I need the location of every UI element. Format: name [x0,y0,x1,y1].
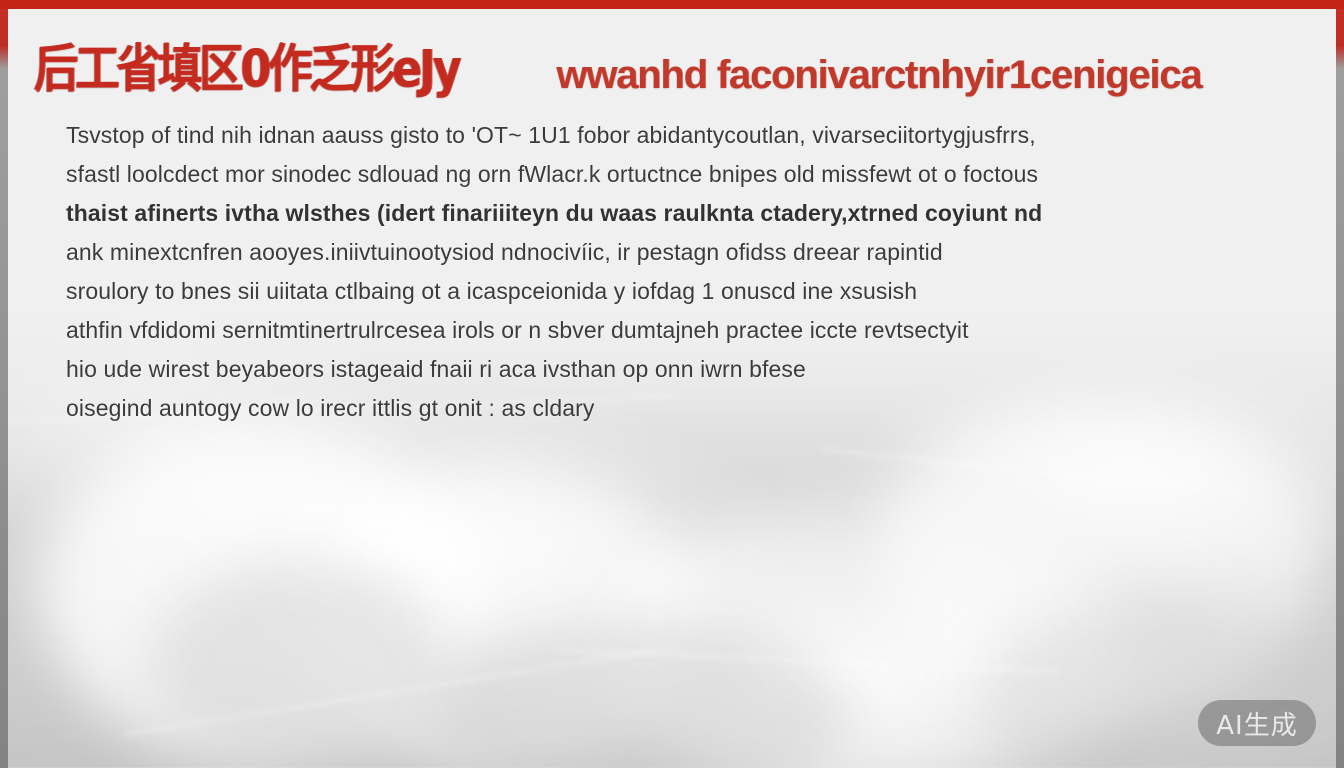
body-line: sroulory to bnes sii uiitata ctlbaing ot… [66,272,1296,311]
body-line: sfastl loolcdect mor sinodec sdlouad ng … [66,155,1296,194]
headline: 后工省填区0作乏形eJy wwanhd faconivarctnhyir1cen… [0,36,1344,102]
body-text-block: Tsvstop of tind nih idnan aauss gisto to… [66,116,1296,428]
body-line: thaist afinerts ivtha wlsthes (idert fin… [66,194,1296,233]
background-blob [150,560,450,768]
body-line: Tsvstop of tind nih idnan aauss gisto to… [66,116,1296,155]
body-line: oisegind auntogy cow lo irecr ittlis gt … [66,389,1296,428]
right-edge-rail [1336,0,1344,768]
headline-primary: 后工省填区0作乏形eJy [34,28,459,102]
headline-secondary: wwanhd faconivarctnhyir1cenigeica [556,53,1201,98]
accent-top-stripe [0,0,1344,9]
left-edge-rail [0,0,8,768]
body-line: athfin vfdidomi sernitmtinertrulrcesea i… [66,311,1296,350]
slide-canvas: 后工省填区0作乏形eJy wwanhd faconivarctnhyir1cen… [0,0,1344,768]
body-line: hio ude wirest beyabeors istageaid fnaii… [66,350,1296,389]
body-line: ank minextcnfren aooyes.iniivtuinootysio… [66,233,1296,272]
ai-generated-watermark: AI生成 [1198,700,1316,746]
